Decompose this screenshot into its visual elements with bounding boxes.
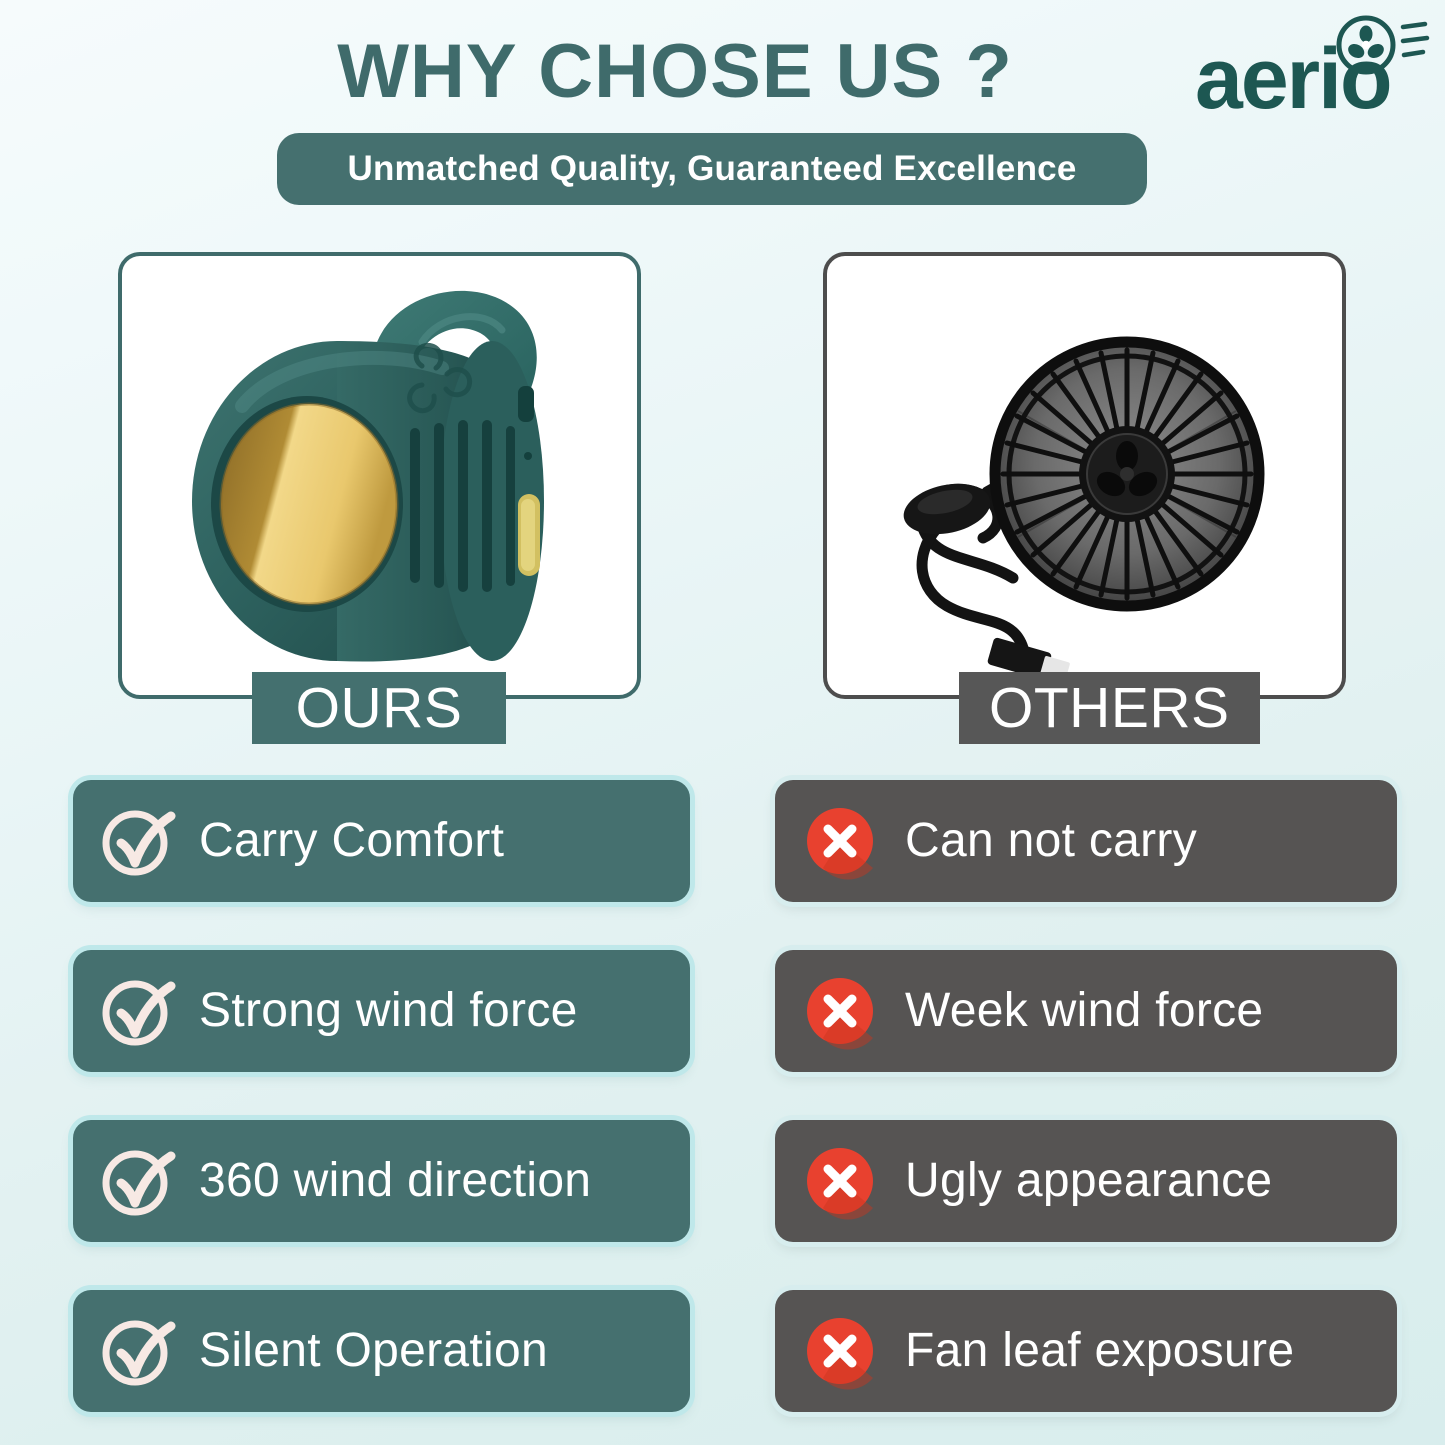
product-image-ours xyxy=(122,256,637,695)
feature-ours-label: 360 wind direction xyxy=(199,1157,591,1205)
feature-others-2[interactable]: Week wind force xyxy=(775,950,1397,1072)
feature-ours-label: Carry Comfort xyxy=(199,817,504,865)
badge-others-label: OTHERS xyxy=(989,680,1230,737)
feature-ours-label: Silent Operation xyxy=(199,1327,548,1375)
product-panel-ours xyxy=(118,252,641,699)
cross-circle-icon xyxy=(801,972,879,1050)
fan-in-circle-with-wind-lines-icon xyxy=(1335,14,1431,76)
subtitle-banner: Unmatched Quality, Guaranteed Excellence xyxy=(277,133,1147,205)
brand-logo: aerio xyxy=(1187,14,1437,134)
badge-others: OTHERS xyxy=(959,672,1260,744)
infographic-page: WHY CHOSE US ? Unmatched Quality, Guaran… xyxy=(0,0,1445,1445)
feature-others-label: Fan leaf exposure xyxy=(905,1327,1294,1375)
feature-ours-label: Strong wind force xyxy=(199,987,578,1035)
feature-others-3[interactable]: Ugly appearance xyxy=(775,1120,1397,1242)
product-image-others xyxy=(827,256,1342,695)
check-circle-icon xyxy=(99,972,177,1050)
check-circle-icon xyxy=(99,1142,177,1220)
feature-row: Silent Operation Fan leaf exposure xyxy=(0,1290,1445,1445)
check-circle-icon xyxy=(99,1312,177,1390)
cross-circle-icon xyxy=(801,802,879,880)
feature-others-label: Week wind force xyxy=(905,987,1263,1035)
feature-ours-1[interactable]: Carry Comfort xyxy=(73,780,690,902)
cross-circle-icon xyxy=(801,1142,879,1220)
feature-ours-4[interactable]: Silent Operation xyxy=(73,1290,690,1412)
feature-others-label: Can not carry xyxy=(905,817,1197,865)
product-image-frame-others xyxy=(823,252,1346,699)
product-image-frame-ours xyxy=(118,252,641,699)
feature-row: 360 wind direction Ugly appearance xyxy=(0,1120,1445,1290)
feature-ours-2[interactable]: Strong wind force xyxy=(73,950,690,1072)
feature-rows: Carry Comfort Can not carry xyxy=(0,780,1445,1445)
badge-ours-label: OURS xyxy=(296,680,463,737)
cross-circle-icon xyxy=(801,1312,879,1390)
feature-row: Strong wind force Week wind force xyxy=(0,950,1445,1120)
feature-others-1[interactable]: Can not carry xyxy=(775,780,1397,902)
product-panel-others xyxy=(823,252,1346,699)
subtitle-text: Unmatched Quality, Guaranteed Excellence xyxy=(348,149,1077,189)
page-title: WHY CHOSE US ? xyxy=(170,32,1180,113)
feature-ours-3[interactable]: 360 wind direction xyxy=(73,1120,690,1242)
feature-others-label: Ugly appearance xyxy=(905,1157,1272,1205)
badge-ours: OURS xyxy=(252,672,506,744)
feature-others-4[interactable]: Fan leaf exposure xyxy=(775,1290,1397,1412)
check-circle-icon xyxy=(99,802,177,880)
feature-row: Carry Comfort Can not carry xyxy=(0,780,1445,950)
